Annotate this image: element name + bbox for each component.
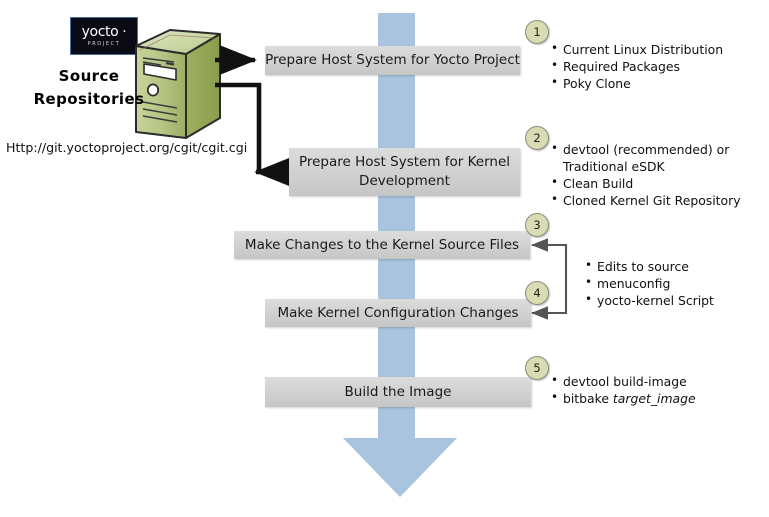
flow-arrow-head bbox=[343, 438, 457, 497]
note-item: Cloned Kernel Git Repository bbox=[551, 192, 741, 209]
source-repository-url: Http://git.yoctoproject.org/cgit/cgit.cg… bbox=[6, 140, 247, 155]
note-item: Clean Build bbox=[551, 175, 741, 192]
note-item: yocto-kernel Script bbox=[585, 292, 714, 309]
source-repositories-label: Source Repositories bbox=[33, 65, 145, 111]
note-item-continuation: Traditional eSDK bbox=[551, 158, 741, 175]
note-item: devtool build-image bbox=[551, 373, 696, 390]
flow-arrow-shaft bbox=[378, 13, 415, 438]
step-number-5: 5 bbox=[525, 356, 549, 380]
diagram-canvas: yocto · PROJECT bbox=[0, 0, 769, 517]
step-notes-2: devtool (recommended) or Traditional eSD… bbox=[551, 141, 741, 209]
step-number-2: 2 bbox=[525, 126, 549, 150]
step-box-2[interactable]: Prepare Host System for Kernel Developme… bbox=[289, 148, 520, 196]
yocto-project-logo: yocto · PROJECT bbox=[70, 17, 138, 55]
note-item: Current Linux Distribution bbox=[551, 41, 723, 58]
step-number-4: 4 bbox=[525, 281, 549, 305]
step-box-5[interactable]: Build the Image bbox=[265, 377, 531, 407]
step-box-1[interactable]: Prepare Host System for Yocto Project bbox=[265, 46, 520, 75]
step-box-4[interactable]: Make Kernel Configuration Changes bbox=[265, 299, 531, 327]
step-box-3[interactable]: Make Changes to the Kernel Source Files bbox=[234, 231, 530, 259]
note-item: Poky Clone bbox=[551, 75, 723, 92]
source-label-line-2: Repositories bbox=[33, 88, 145, 111]
step-number-3: 3 bbox=[525, 213, 549, 237]
step-notes-3-4: Edits to source menuconfig yocto-kernel … bbox=[585, 258, 714, 309]
source-label-line-1: Source bbox=[33, 65, 145, 88]
note-text: bitbake bbox=[563, 391, 613, 406]
step-number-1: 1 bbox=[525, 20, 549, 44]
step-notes-5: devtool build-image bitbake target_image bbox=[551, 373, 696, 407]
note-text: devtool build-image bbox=[563, 374, 687, 389]
logo-subtext: PROJECT bbox=[88, 41, 121, 47]
logo-wordmark: yocto · bbox=[82, 25, 127, 39]
note-item: Edits to source bbox=[585, 258, 714, 275]
note-item: bitbake target_image bbox=[551, 390, 696, 407]
step-notes-1: Current Linux Distribution Required Pack… bbox=[551, 41, 723, 92]
note-item: menuconfig bbox=[585, 275, 714, 292]
note-item: Required Packages bbox=[551, 58, 723, 75]
note-item: devtool (recommended) or bbox=[551, 141, 741, 158]
note-text-italic: target_image bbox=[613, 391, 696, 406]
